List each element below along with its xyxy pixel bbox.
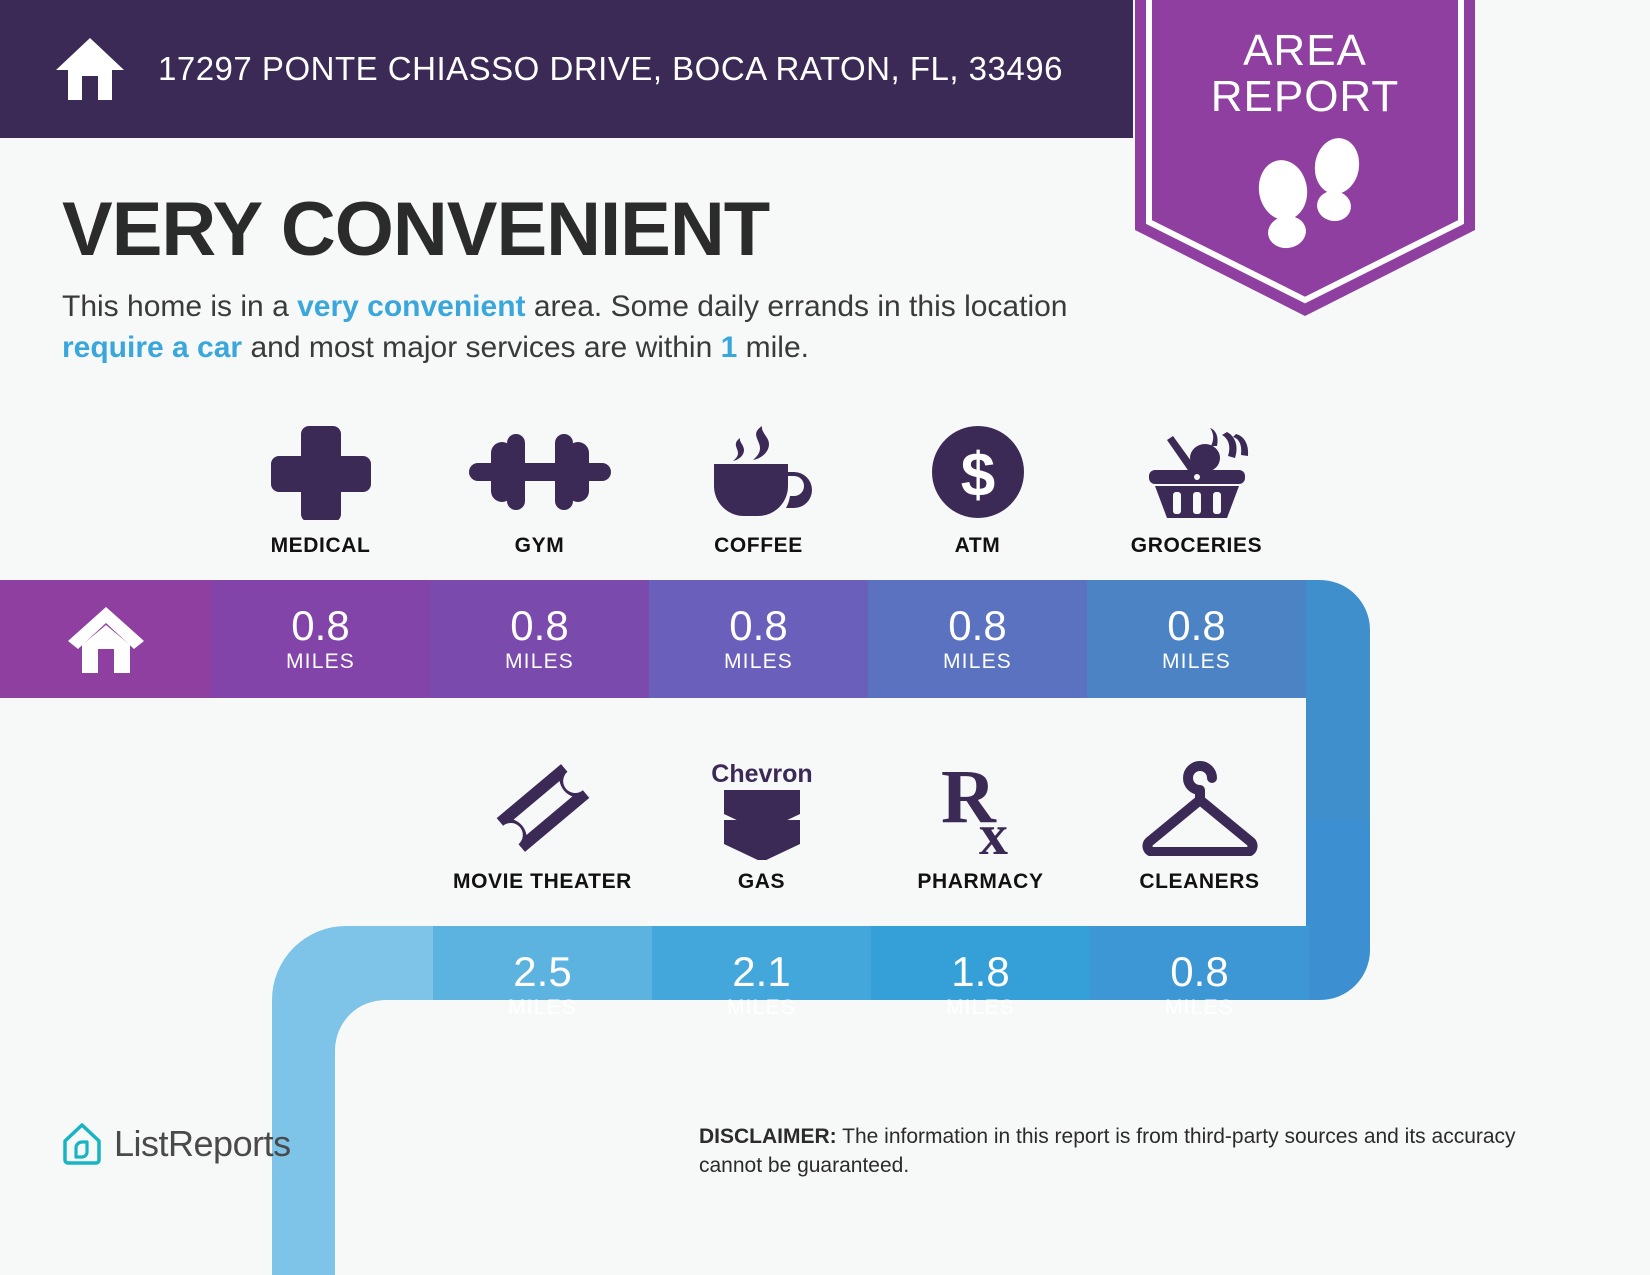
listreports-wordmark: ListReports [114, 1123, 291, 1165]
distance-unit-groceries: MILES [1162, 650, 1231, 674]
summary-text-2: area. Some daily errands in this locatio… [526, 290, 1068, 323]
service-label-medical: MEDICAL [271, 534, 371, 558]
distance-value-pharmacy: 1.8 [951, 951, 1009, 993]
bar-connector-right-lower [1306, 820, 1426, 1060]
distance-cell-cleaners: 0.8 MILES [1090, 926, 1309, 1044]
area-report-badge: AREA REPORT [1125, 0, 1485, 324]
service-label-gym: GYM [515, 534, 565, 558]
property-address: 17297 PONTE CHIASSO DRIVE, BOCA RATON, F… [158, 50, 1063, 88]
listreports-logo: ListReports [62, 1122, 291, 1166]
movie-ticket-icon [491, 760, 595, 856]
coffee-cup-icon [704, 424, 814, 520]
distance-cell-medical: 0.8 MILES [211, 580, 430, 698]
distance-unit-cleaners: MILES [1165, 996, 1234, 1020]
distance-unit-movie-theater: MILES [508, 996, 577, 1020]
hanger-icon [1135, 760, 1265, 856]
service-atm: $ ATM [868, 424, 1087, 558]
distance-cell-atm: 0.8 MILES [868, 580, 1087, 698]
distance-unit-gym: MILES [505, 650, 574, 674]
bar-home-marker [0, 580, 211, 698]
service-groceries: GROCERIES [1087, 424, 1306, 558]
dollar-circle-icon: $ [930, 424, 1026, 520]
header-bar: 17297 PONTE CHIASSO DRIVE, BOCA RATON, F… [0, 0, 1133, 138]
service-icon-row-1: MEDICAL GYM [211, 424, 1306, 558]
chevron-gas-icon: Chevron [710, 760, 814, 856]
summary-highlight-3: 1 [721, 331, 738, 364]
service-label-atm: ATM [955, 534, 1001, 558]
service-label-gas: GAS [738, 870, 785, 894]
distance-cell-coffee: 0.8 MILES [649, 580, 868, 698]
distance-value-gas: 2.1 [732, 951, 790, 993]
distance-value-groceries: 0.8 [1167, 605, 1225, 647]
distance-cell-pharmacy: 1.8 MILES [871, 926, 1090, 1044]
medical-cross-icon [271, 424, 371, 520]
distance-value-gym: 0.8 [510, 605, 568, 647]
listreports-house-icon [62, 1122, 102, 1166]
distance-bar-row-2: 2.5 MILES 2.1 MILES 1.8 MILES 0.8 MILES [433, 926, 1309, 1044]
distance-value-cleaners: 0.8 [1170, 951, 1228, 993]
summary-text-4: mile. [737, 331, 809, 364]
service-movie-theater: MOVIE THEATER [433, 760, 652, 894]
home-icon [54, 36, 126, 102]
service-label-groceries: GROCERIES [1131, 534, 1262, 558]
distance-cell-gym: 0.8 MILES [430, 580, 649, 698]
distance-unit-atm: MILES [943, 650, 1012, 674]
distance-cell-gas: 2.1 MILES [652, 926, 871, 1044]
distance-cell-movie-theater: 2.5 MILES [433, 926, 652, 1044]
rx-pharmacy-icon: R x [929, 760, 1033, 856]
distance-value-atm: 0.8 [948, 605, 1006, 647]
grocery-basket-icon [1141, 424, 1253, 520]
dumbbell-icon [469, 424, 611, 520]
bar-connector-right-upper [1306, 580, 1426, 820]
summary-text-3: and most major services are within [242, 331, 721, 364]
home-icon [66, 603, 146, 675]
distance-value-coffee: 0.8 [729, 605, 787, 647]
distance-unit-coffee: MILES [724, 650, 793, 674]
service-pharmacy: R x PHARMACY [871, 760, 1090, 894]
distance-unit-gas: MILES [727, 996, 796, 1020]
service-gas: Chevron GAS [652, 760, 871, 894]
svg-text:$: $ [960, 441, 994, 510]
service-icon-row-2: MOVIE THEATER Chevron GAS R x PHARMACY [433, 760, 1309, 894]
bar-tail-left [272, 1000, 433, 1275]
service-label-pharmacy: PHARMACY [917, 870, 1043, 894]
distance-value-movie-theater: 2.5 [513, 951, 571, 993]
page-title: VERY CONVENIENT [62, 186, 769, 273]
summary-highlight-1: very convenient [297, 290, 525, 323]
summary-description: This home is in a very convenient area. … [62, 286, 1107, 368]
gas-brand-text: Chevron [711, 760, 812, 788]
service-coffee: COFFEE [649, 424, 868, 558]
service-gym: GYM [430, 424, 649, 558]
distance-cell-groceries: 0.8 MILES [1087, 580, 1306, 698]
summary-text-1: This home is in a [62, 290, 297, 323]
summary-highlight-2: require a car [62, 331, 242, 364]
service-label-coffee: COFFEE [714, 534, 803, 558]
distance-unit-pharmacy: MILES [946, 996, 1015, 1020]
disclaimer-label: DISCLAIMER: [699, 1125, 837, 1148]
distance-unit-medical: MILES [286, 650, 355, 674]
service-medical: MEDICAL [211, 424, 430, 558]
disclaimer: DISCLAIMER: The information in this repo… [699, 1122, 1519, 1180]
bar-segment-row2-lead [272, 926, 433, 1044]
service-label-cleaners: CLEANERS [1139, 870, 1259, 894]
service-label-movie-theater: MOVIE THEATER [453, 870, 632, 894]
distance-value-medical: 0.8 [291, 605, 349, 647]
svg-text:x: x [979, 802, 1008, 860]
distance-bar-row-1: 0.8 MILES 0.8 MILES 0.8 MILES 0.8 MILES … [0, 580, 1306, 698]
service-cleaners: CLEANERS [1090, 760, 1309, 894]
